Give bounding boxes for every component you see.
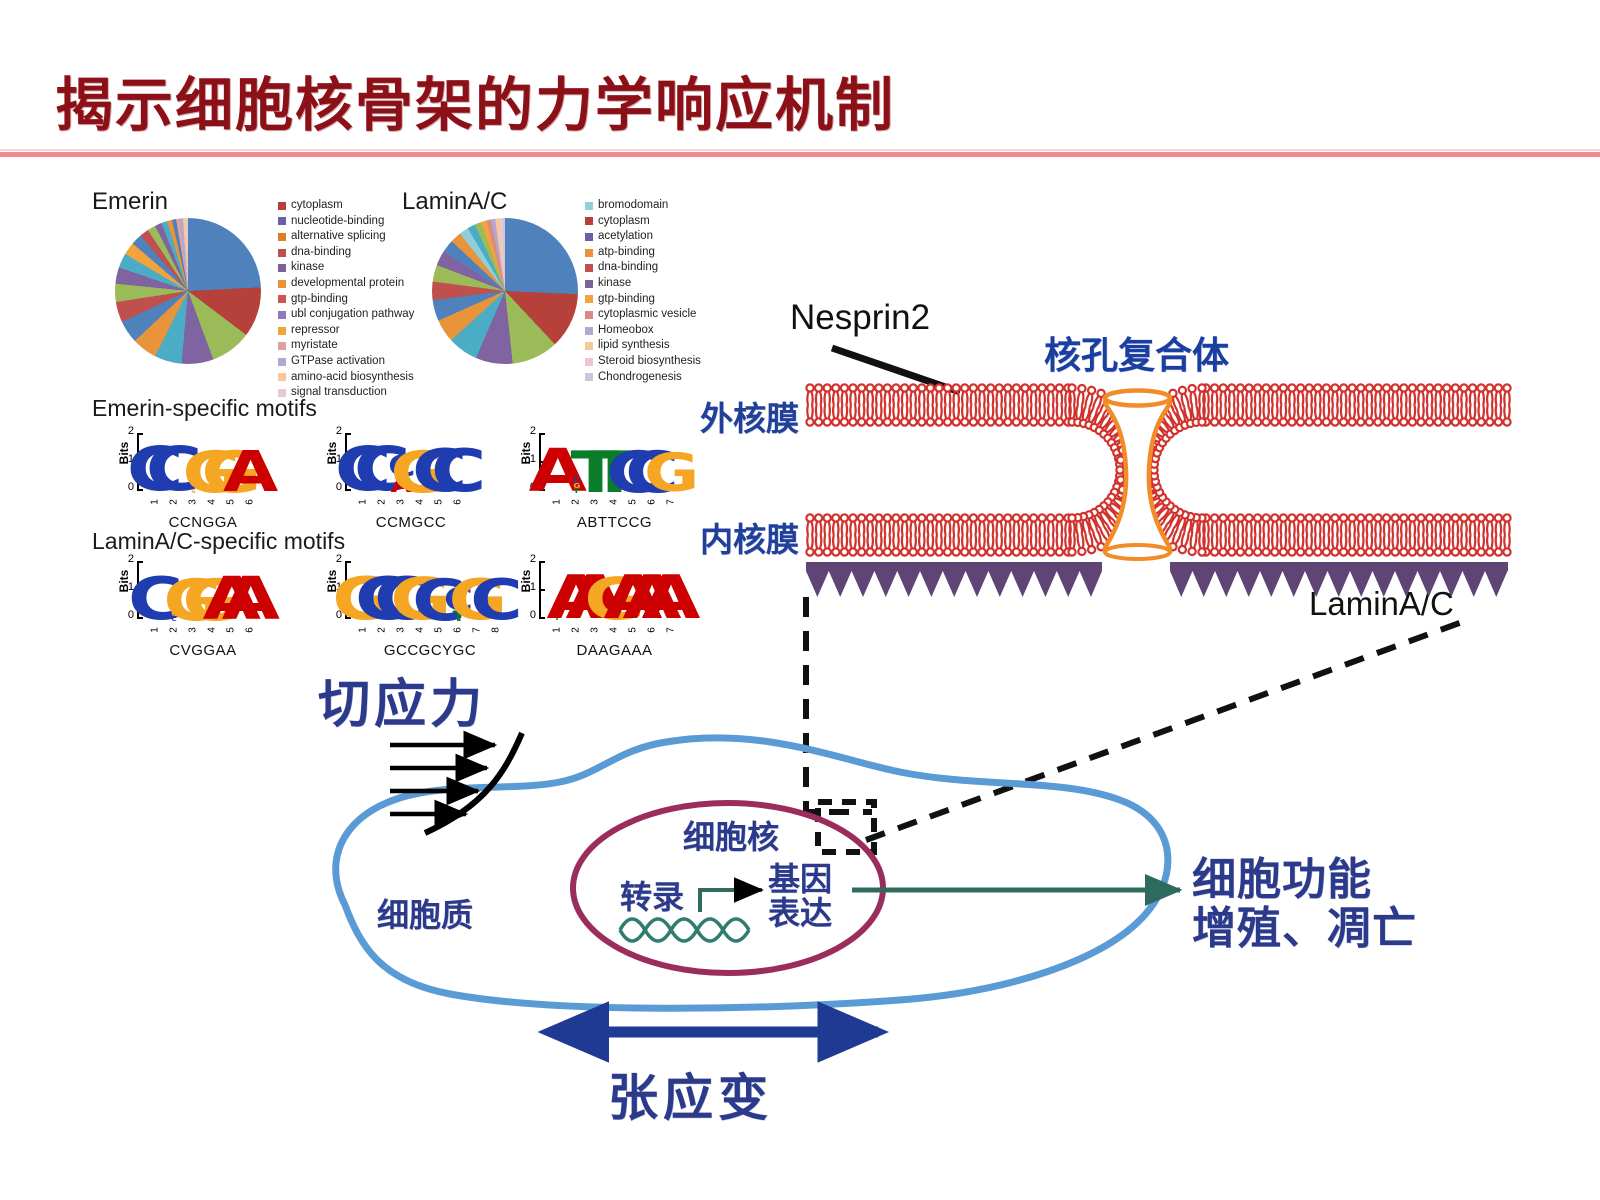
membrane-and-cell-graphics: [0, 0, 1600, 1200]
shear-flow-arrows: [390, 745, 495, 814]
transcription-label: 转录: [620, 872, 684, 918]
shear-stress-label: 切应力: [318, 662, 486, 737]
tensile-strain-label: 张应变: [608, 1058, 773, 1130]
nucleus-label: 细胞核: [683, 812, 779, 858]
cytoplasm-label: 细胞质: [377, 890, 473, 936]
transcription-arrow: [700, 890, 762, 912]
gene-expression-label: 基因 表达: [768, 863, 832, 930]
cell-function-label: 细胞功能 增殖、凋亡: [1192, 855, 1417, 954]
slide-root: 揭示细胞核骨架的力学响应机制 Emerincytoplasmnucleotide…: [0, 0, 1600, 1200]
cell-function-line-2: 增殖、凋亡: [1192, 904, 1417, 953]
shear-velocity-profile: [425, 733, 522, 833]
callout-line-vertical: [806, 597, 872, 812]
gene-expression-line-1: 基因: [768, 863, 832, 897]
gene-expression-line-2: 表达: [768, 897, 832, 931]
nuclear-lamina-right: [1170, 562, 1508, 597]
callout-line-diagonal: [866, 622, 1462, 840]
nuclear-pore-icon: [1105, 391, 1170, 560]
cell-function-line-1: 细胞功能: [1192, 855, 1417, 904]
dna-helix-icon: [620, 919, 749, 941]
nuclear-lamina-left: [806, 562, 1102, 597]
